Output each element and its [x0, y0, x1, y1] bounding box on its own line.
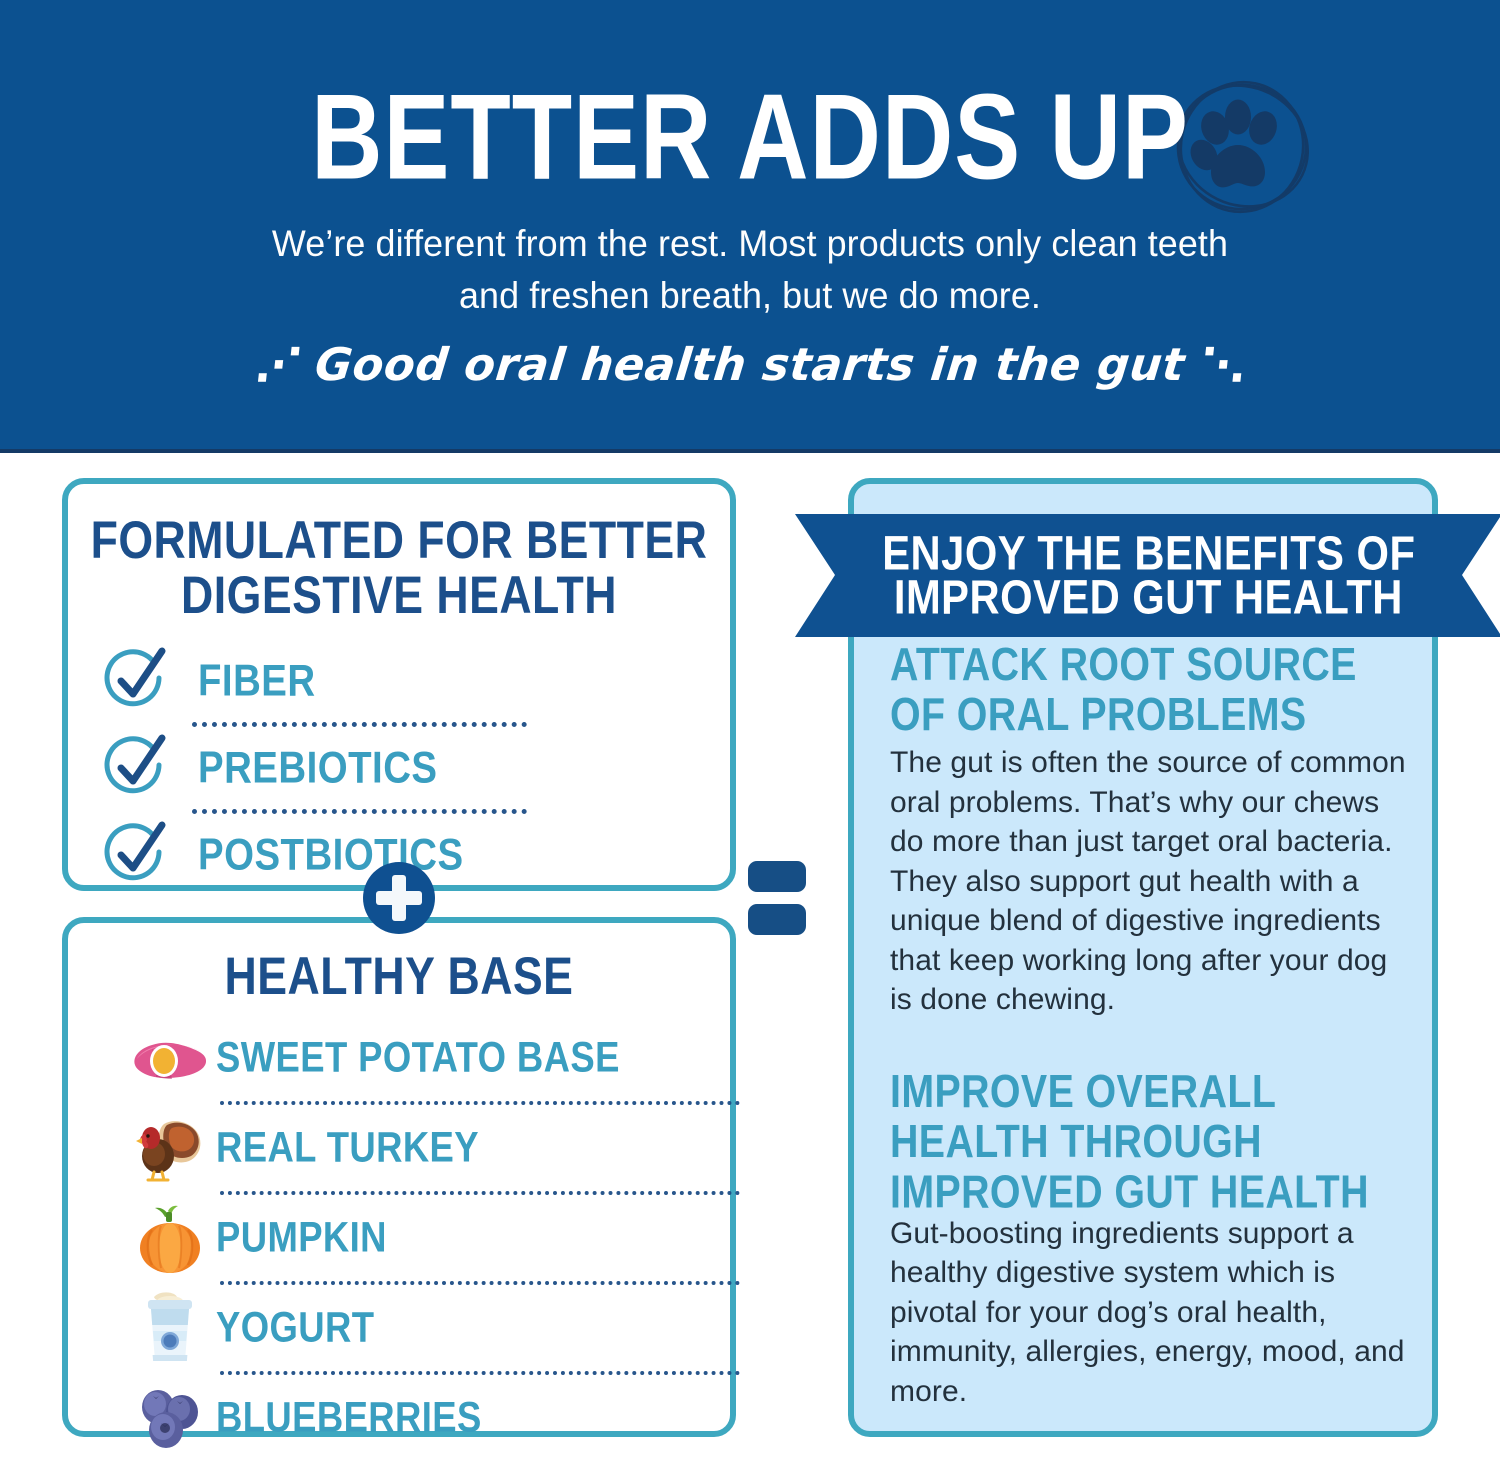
check-circle-icon — [104, 822, 170, 888]
ribbon-line2: IMPROVED GUT HEALTH — [894, 573, 1403, 622]
equals-bar-top — [748, 861, 806, 892]
header-banner: BETTER ADDS UP We’re different from the … — [0, 0, 1500, 453]
header-subhead-line2: and freshen breath, but we do more. — [23, 270, 1478, 322]
benefits-content: ATTACK ROOT SOURCE OF ORAL PROBLEMS The … — [854, 639, 1444, 1411]
equals-icon — [748, 861, 810, 947]
equals-bar-bottom — [748, 904, 806, 935]
list-item-pumpkin: PUMPKIN — [124, 1195, 704, 1281]
benefit-heading: ATTACK ROOT SOURCE OF ORAL PROBLEMS — [890, 639, 1387, 739]
formulated-panel: FORMULATED FOR BETTER DIGESTIVE HEALTH F… — [62, 478, 736, 891]
healthy-base-item-list: SWEET POTATO BASE — [68, 1015, 730, 1461]
sweet-potato-icon — [124, 1029, 216, 1087]
benefit-heading-line1: IMPROVE OVERALL — [890, 1066, 1387, 1116]
list-item-label: FIBER — [198, 656, 316, 706]
benefits-ribbon-text: ENJOY THE BENEFITS OF IMPROVED GUT HEALT… — [795, 514, 1500, 637]
blueberries-icon — [124, 1385, 216, 1451]
divider — [192, 722, 527, 727]
header-subhead: We’re different from the rest. Most prod… — [23, 218, 1478, 322]
benefit-body-text: Gut-boosting ingredients support a healt… — [890, 1214, 1408, 1412]
benefit-block-improve-overall-health: IMPROVE OVERALL HEALTH THROUGH IMPROVED … — [854, 1066, 1444, 1412]
list-item-label: REAL TURKEY — [216, 1124, 479, 1172]
header-subhead-line1: We’re different from the rest. Most prod… — [23, 218, 1478, 270]
plus-horizontal-bar — [376, 891, 422, 905]
pumpkin-icon — [124, 1202, 216, 1274]
healthy-base-panel-title: HEALTHY BASE — [85, 948, 714, 1003]
list-item-label: PUMPKIN — [216, 1214, 387, 1262]
header-tagline: ⋰ Good oral health starts in the gut ⋱ — [0, 338, 1500, 391]
yogurt-cup-icon — [124, 1291, 216, 1365]
list-item-sweet-potato: SWEET POTATO BASE — [124, 1015, 704, 1101]
tagline-text: Good oral health starts in the gut — [313, 338, 1188, 391]
list-item-label: SWEET POTATO BASE — [216, 1034, 620, 1082]
plus-icon — [363, 862, 435, 934]
benefit-block-attack-root-source: ATTACK ROOT SOURCE OF ORAL PROBLEMS The … — [854, 639, 1444, 1020]
divider — [220, 1101, 740, 1105]
healthy-base-panel: HEALTHY BASE SWEET POTATO BASE — [62, 917, 736, 1437]
formulated-title-line2: DIGESTIVE HEALTH — [85, 567, 714, 622]
benefit-heading-line2: HEALTH THROUGH — [890, 1116, 1387, 1166]
divider — [220, 1191, 740, 1195]
benefit-heading-line1: ATTACK ROOT SOURCE — [890, 639, 1387, 689]
list-item-label: YOGURT — [216, 1304, 374, 1352]
divider — [192, 809, 527, 814]
check-circle-icon — [104, 735, 170, 801]
list-item-real-turkey: REAL TURKEY — [124, 1105, 704, 1191]
list-item-prebiotics: PREBIOTICS — [104, 727, 694, 809]
page-title: BETTER ADDS UP — [30, 78, 1470, 196]
turkey-icon — [124, 1112, 216, 1184]
tagline-decor-left: ⋰ — [253, 338, 302, 391]
list-item-label: PREBIOTICS — [198, 743, 438, 793]
list-item-label: BLUEBERRIES — [216, 1394, 482, 1442]
check-circle-icon — [104, 648, 170, 714]
list-item-yogurt: YOGURT — [124, 1285, 704, 1371]
benefit-body-text: The gut is often the source of common or… — [890, 743, 1408, 1020]
benefit-heading: IMPROVE OVERALL HEALTH THROUGH IMPROVED … — [890, 1066, 1387, 1216]
benefit-heading-line3: IMPROVED GUT HEALTH — [890, 1166, 1387, 1216]
divider — [220, 1371, 740, 1375]
formulated-item-list: FIBER PREBIOTICS — [68, 640, 730, 896]
list-item-blueberries: BLUEBERRIES — [124, 1375, 704, 1461]
tagline-decor-right: ⋱ — [1198, 338, 1247, 391]
formulated-panel-title: FORMULATED FOR BETTER DIGESTIVE HEALTH — [85, 512, 714, 622]
divider — [220, 1281, 740, 1285]
infographic-page: BETTER ADDS UP We’re different from the … — [0, 0, 1500, 1464]
list-item-fiber: FIBER — [104, 640, 694, 722]
benefit-heading-line2: OF ORAL PROBLEMS — [890, 689, 1387, 739]
formulated-title-line1: FORMULATED FOR BETTER — [85, 512, 714, 567]
